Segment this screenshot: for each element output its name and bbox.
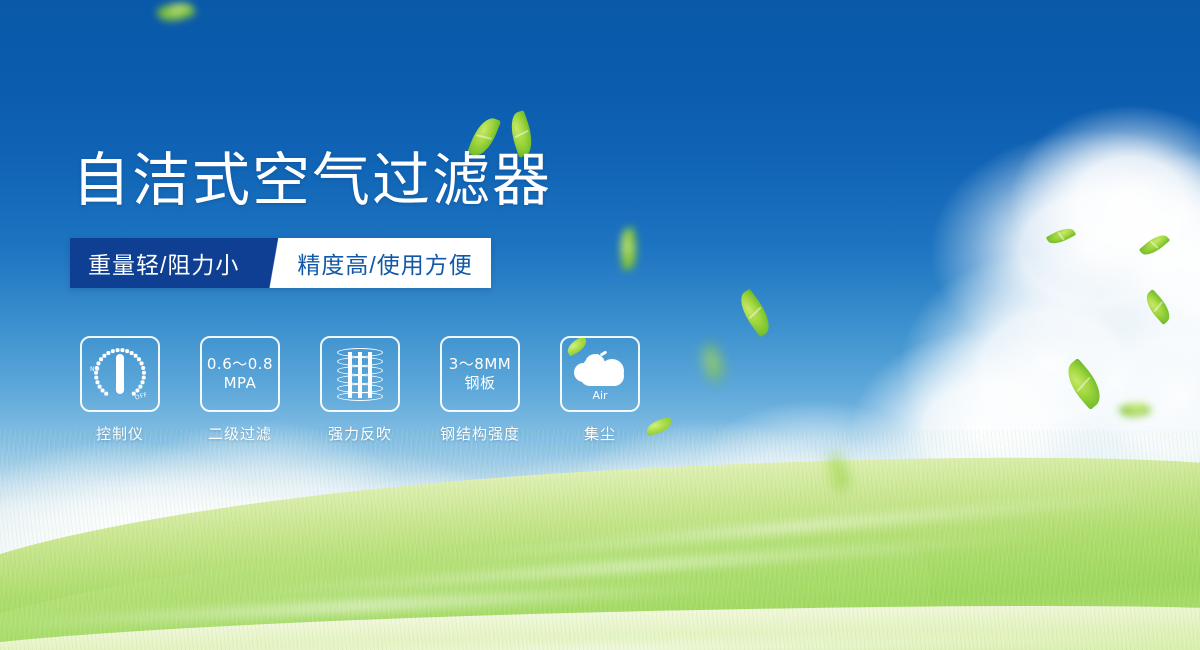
air-label: Air	[570, 389, 630, 402]
feature-item-secondary-filter[interactable]: 0.6～0.8 MPA 二级过滤	[196, 336, 284, 444]
gauge-off-label: OFF	[134, 391, 148, 401]
feature-label-secondary-filter: 二级过滤	[208, 423, 272, 444]
pressure-value-line2: MPA	[224, 374, 257, 393]
feature-icon-box: NO OFF	[80, 336, 160, 412]
cloud-swoosh	[600, 350, 608, 356]
gauge-tick-dot	[125, 349, 128, 352]
feature-item-steel-strength[interactable]: 3～8MM 钢板 钢结构强度	[436, 336, 524, 444]
gauge-tick-dot	[107, 351, 110, 354]
feature-list: NO OFF 控制仪 0.6～0.8 MPA 二级过滤	[76, 336, 644, 444]
feature-item-backflush[interactable]: 强力反吹	[316, 336, 404, 444]
feature-label-steel-strength: 钢结构强度	[440, 423, 520, 444]
gauge-tick-dot	[142, 366, 145, 369]
gauge-needle	[116, 354, 124, 394]
hero-banner: 自洁式空气过滤器 重量轻/阻力小 精度高/使用方便 NO OFF 控制仪 0.6…	[0, 0, 1200, 650]
coil-bar	[358, 352, 362, 398]
subtitle-banner: 重量轻/阻力小 精度高/使用方便	[70, 238, 491, 288]
feature-icon-box: 3～8MM 钢板	[440, 336, 520, 412]
cloud-body	[580, 366, 624, 386]
gauge-tick-dot	[130, 351, 133, 354]
page-title: 自洁式空气过滤器	[72, 148, 552, 212]
coil-bar	[348, 352, 352, 398]
grass-field	[0, 430, 1200, 650]
subtitle-left: 重量轻/阻力小	[70, 238, 259, 288]
feature-item-controller[interactable]: NO OFF 控制仪	[76, 336, 164, 444]
air-cloud-icon: Air	[570, 346, 630, 402]
gauge-tick-dot	[136, 389, 139, 392]
feature-icon-box: 0.6～0.8 MPA	[200, 336, 280, 412]
feature-icon-box: Air	[560, 336, 640, 412]
gauge-tick-dot	[98, 385, 101, 388]
steel-value-line1: 3～8MM	[449, 355, 511, 374]
gauge-tick-dot	[111, 349, 114, 352]
gauge-tick-dot	[116, 348, 119, 351]
gauge-tick-dot	[139, 385, 142, 388]
gauge-tick-dot	[97, 362, 100, 365]
banner-diagonal-divider	[259, 238, 293, 288]
coil-filter-icon	[337, 348, 383, 400]
feature-item-dust-collection[interactable]: Air 集尘	[556, 336, 644, 444]
gauge-tick-dot	[140, 362, 143, 365]
feature-icon-box	[320, 336, 400, 412]
pressure-value-line1: 0.6～0.8	[207, 355, 273, 374]
gauge-tick-dot	[101, 389, 104, 392]
gauge-tick-dot	[95, 376, 98, 379]
gauge-tick-dot	[105, 392, 108, 395]
gauge-tick-dot	[96, 381, 99, 384]
gauge-tick-dot	[142, 371, 145, 374]
steel-value-line2: 钢板	[464, 374, 495, 393]
subtitle-right: 精度高/使用方便	[293, 238, 490, 288]
gauge-tick-dot	[142, 376, 145, 379]
gauge-tick-dot	[137, 358, 140, 361]
gauge-tick-dot	[94, 371, 97, 374]
feature-label-backflush: 强力反吹	[328, 423, 392, 444]
gauge-icon: NO OFF	[90, 345, 150, 403]
gauge-tick-dot	[103, 354, 106, 357]
feature-label-dust-collection: 集尘	[584, 423, 616, 444]
feature-label-controller: 控制仪	[96, 423, 144, 444]
gauge-tick-dot	[99, 358, 102, 361]
gauge-tick-dot	[121, 348, 124, 351]
gauge-tick-dot	[141, 381, 144, 384]
coil-bar	[368, 352, 372, 398]
